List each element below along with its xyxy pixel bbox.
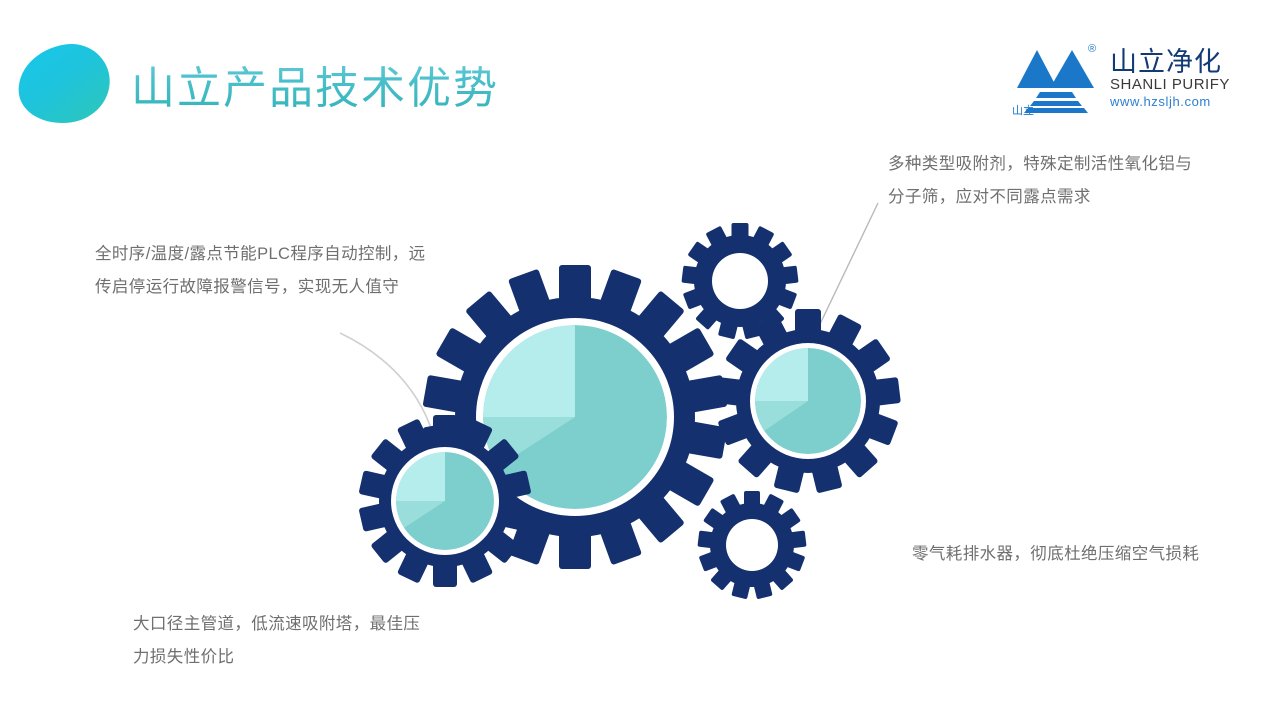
gear-bottom-small: [697, 491, 806, 599]
callout-top-right: 多种类型吸附剂，特殊定制活性氧化铝与分子筛，应对不同露点需求: [888, 148, 1208, 214]
company-logo: ® 山立 山立净化 SHANLI PURIFY www.hzsljh.com: [1010, 42, 1262, 118]
logo-website: www.hzsljh.com: [1110, 94, 1262, 110]
logo-mark-label: 山立: [1012, 106, 1034, 117]
callout-top-left: 全时序/温度/露点节能PLC程序自动控制，远传启停运行故障报警信号，实现无人值守: [95, 238, 440, 304]
callout-bottom-left: 大口径主管道，低流速吸附塔，最佳压力损失性价比: [133, 608, 433, 674]
gear-lower-left: [358, 415, 531, 587]
logo-name-en: SHANLI PURIFY: [1110, 76, 1262, 94]
callout-bottom-right: 零气耗排水器，彻底杜绝压缩空气损耗: [912, 538, 1222, 571]
logo-name-cn: 山立净化: [1110, 48, 1262, 76]
logo-wordmark: 山立净化 SHANLI PURIFY www.hzsljh.com: [1110, 48, 1262, 110]
header-blob-decoration: [13, 39, 115, 129]
page-title: 山立产品技术优势: [131, 52, 499, 116]
registered-trademark-icon: ®: [1088, 44, 1096, 55]
